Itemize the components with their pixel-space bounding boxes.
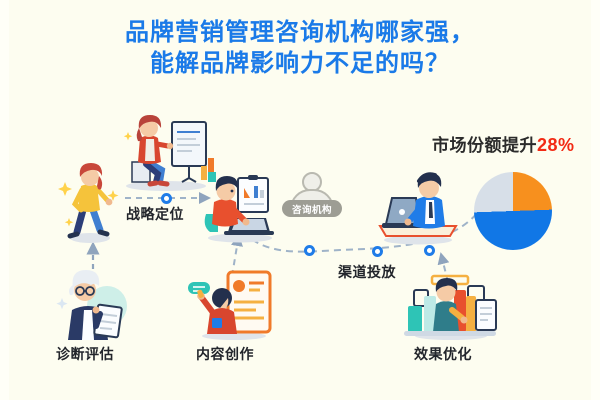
market-share-donut — [474, 172, 552, 250]
poster-canvas: 品牌营销管理咨询机构哪家强， 能解品牌影响力不足的吗？ 市场份额提升28% 战略… — [0, 0, 600, 400]
stage-label-content: 内容创作 — [196, 344, 254, 364]
illustration-diagnosis-expert — [52, 268, 138, 340]
kpi-label: 市场份额提升 — [432, 136, 537, 155]
flow-label-channel: 渠道投放 — [338, 262, 396, 282]
title-line-2: 能解品牌影响力不足的吗？ — [0, 49, 600, 80]
agency-badge-label: 咨询机构 — [282, 200, 342, 217]
illustration-content-creation — [184, 268, 278, 340]
flow-node-channel-1 — [304, 245, 315, 256]
donut-ring — [474, 172, 552, 250]
flow-label-strategy: 战略定位 — [126, 204, 184, 224]
title-line-1: 品牌营销管理咨询机构哪家强， — [0, 18, 600, 49]
market-share-kpi: 市场份额提升28% — [432, 131, 575, 156]
flow-node-strategy — [161, 193, 172, 204]
illustration-analyst-orange — [196, 174, 284, 246]
stage-label-effect: 效果优化 — [414, 344, 472, 364]
agency-badge: 咨询机构 — [286, 172, 338, 228]
kpi-value: 28% — [537, 135, 575, 155]
illustration-effect-optimization — [402, 272, 500, 342]
stage-label-diagnosis: 诊断评估 — [56, 344, 114, 364]
illustration-executive-blue — [372, 172, 464, 248]
page-title: 品牌营销管理咨询机构哪家强， 能解品牌影响力不足的吗？ — [0, 18, 600, 79]
